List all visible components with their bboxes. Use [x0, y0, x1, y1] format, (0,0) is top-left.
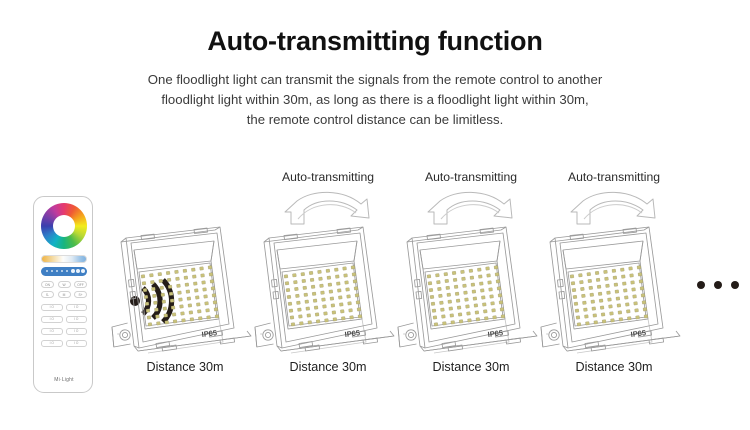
description-line-2: floodlight light within 30m, as long as …	[0, 90, 750, 110]
floodlight-group-1: IP65 Distance 30m	[110, 160, 260, 390]
floodlight-illustration-1: IP65	[110, 220, 260, 375]
ellipsis-dot-1	[697, 281, 705, 289]
auto-transmitting-label-3: Auto-transmitting	[396, 170, 546, 184]
brightness-slider[interactable]	[41, 267, 87, 276]
auto-transmitting-label-2: Auto-transmitting	[253, 170, 403, 184]
remote-zone-row-3: I O I O	[41, 328, 87, 335]
ellipsis-dot-2	[714, 281, 722, 289]
remote-zone-button-5[interactable]: I O	[41, 328, 63, 335]
ip-rating-text: IP65	[487, 328, 503, 339]
description-line-1: One floodlight light can transmit the si…	[0, 70, 750, 90]
remote-button-speed-down[interactable]: S-	[41, 291, 54, 298]
remote-zone-row-1: I O I O	[41, 304, 87, 311]
floodlight-body: IP65	[253, 220, 403, 370]
floodlight-illustration-4: IP65	[539, 220, 689, 375]
remote-zone-button-6[interactable]: I O	[66, 328, 88, 335]
remote-button-w[interactable]: W	[58, 281, 71, 288]
distance-label-2: Distance 30m	[253, 360, 403, 374]
floodlight-illustration-3: IP65	[396, 220, 546, 375]
distance-label-3: Distance 30m	[396, 360, 546, 374]
floodlight-group-3: Auto-transmitting	[396, 160, 546, 390]
floodlight-body: IP65	[110, 220, 260, 370]
cct-slider[interactable]	[41, 255, 87, 263]
remote-button-row-2: S- M S+	[41, 291, 87, 298]
remote-zone-row-2: I O I O	[41, 316, 87, 323]
header: Auto-transmitting function One floodligh…	[0, 0, 750, 130]
floodlight-illustration-2: IP65	[253, 220, 403, 375]
auto-transmitting-label-4: Auto-transmitting	[539, 170, 689, 184]
ip-rating-text: IP65	[630, 328, 646, 339]
remote-zone-button-3[interactable]: I O	[41, 316, 63, 323]
floodlight-body: IP65	[396, 220, 546, 370]
remote-button-speed-up[interactable]: S+	[74, 291, 87, 298]
remote-button-mode[interactable]: M	[58, 291, 71, 298]
remote-zone-button-1[interactable]: I O	[41, 304, 63, 311]
remote-zone-row-4: I O I O	[41, 340, 87, 347]
floodlight-group-2: Auto-transmitting	[253, 160, 403, 390]
remote-control[interactable]: ON W OFF S- M S+ I O I O I O I O I O I O…	[33, 196, 93, 393]
color-wheel-icon[interactable]	[41, 203, 87, 249]
description-line-3: the remote control distance can be limit…	[0, 110, 750, 130]
ellipsis-dot-3	[731, 281, 739, 289]
remote-zone-button-8[interactable]: I O	[66, 340, 88, 347]
ip-rating-text: IP65	[344, 328, 360, 339]
remote-button-on[interactable]: ON	[41, 281, 54, 288]
remote-button-row-1: ON W OFF	[41, 281, 87, 288]
distance-label-4: Distance 30m	[539, 360, 689, 374]
distance-label-1: Distance 30m	[110, 360, 260, 374]
remote-zone-button-7[interactable]: I O	[41, 340, 63, 347]
page-title: Auto-transmitting function	[0, 0, 750, 57]
ip-rating-text: IP65	[201, 328, 217, 339]
brand-logo: Mi·Light	[34, 377, 94, 383]
remote-zone-button-4[interactable]: I O	[66, 316, 88, 323]
page-description: One floodlight light can transmit the si…	[0, 57, 750, 130]
illustration-stage: Auto-transmitting function One floodligh…	[0, 0, 750, 430]
floodlight-body: IP65	[539, 220, 689, 370]
continuation-ellipsis	[697, 281, 743, 289]
color-wheel-center[interactable]	[59, 221, 71, 233]
floodlight-group-4: Auto-transmitting	[539, 160, 689, 390]
remote-zone-button-2[interactable]: I O	[66, 304, 88, 311]
remote-button-off[interactable]: OFF	[74, 281, 87, 288]
